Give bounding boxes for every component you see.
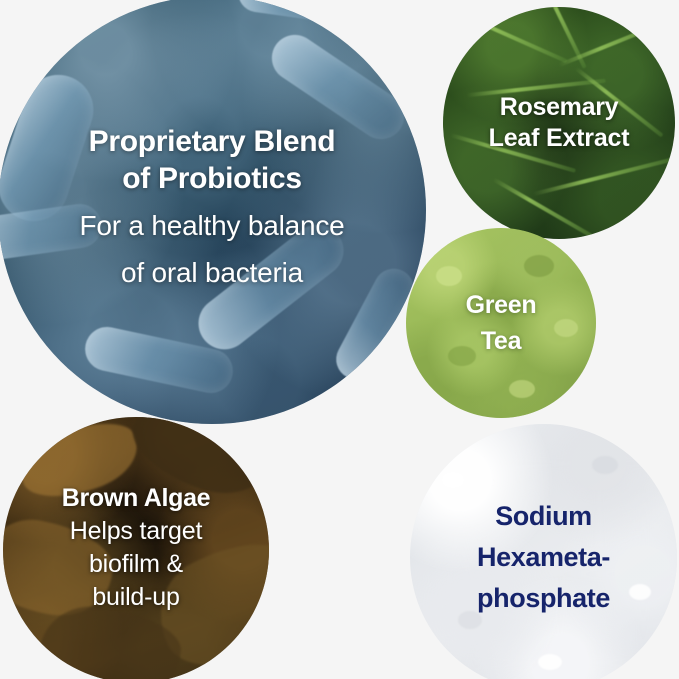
bubble-rosemary[interactable]: Rosemary Leaf Extract [443,7,675,239]
sodium-hexametaphosphate-caption: Sodium Hexameta- phosphate [410,496,677,619]
bubble-probiotics[interactable]: Proprietary Blend of Probiotics For a he… [0,0,426,424]
rosemary-caption: Rosemary Leaf Extract [443,92,675,154]
probiotics-title-line1: Proprietary Blend [4,123,420,160]
green-tea-title-line1: Green [412,287,590,323]
brown-algae-subtitle-line1: Helps target [9,515,263,548]
powder-speck-icon [509,380,535,398]
brown-algae-title: Brown Algae [9,482,263,515]
green-tea-caption: Green Tea [406,287,596,359]
brown-algae-subtitle-line2: biofilm & [9,548,263,581]
probiotics-subtitle-line2: of oral bacteria [4,255,420,291]
bubble-brown-algae[interactable]: Brown Algae Helps target biofilm & build… [3,417,269,679]
ingredient-infographic: Proprietary Blend of Probiotics For a he… [0,0,679,679]
shmp-title-line1: Sodium [416,496,671,537]
bubble-green-tea[interactable]: Green Tea [406,228,596,418]
brown-algae-subtitle-line3: build-up [9,581,263,614]
powder-speck-icon [524,255,554,277]
probiotics-title-line2: of Probiotics [4,160,420,197]
rosemary-title: Rosemary [449,92,669,123]
green-tea-title-line2: Tea [412,323,590,359]
bubble-sodium-hexametaphosphate[interactable]: Sodium Hexameta- phosphate [410,424,677,679]
probiotics-subtitle-line1: For a healthy balance [4,208,420,244]
shmp-title-line2: Hexameta- [416,537,671,578]
rosemary-subtitle: Leaf Extract [449,123,669,154]
powder-grain-icon [592,456,618,474]
powder-grain-icon [538,654,562,670]
shmp-title-line3: phosphate [416,578,671,619]
powder-grain-icon [442,472,464,488]
probiotics-caption: Proprietary Blend of Probiotics For a he… [0,123,426,291]
brown-algae-caption: Brown Algae Helps target biofilm & build… [3,482,269,614]
